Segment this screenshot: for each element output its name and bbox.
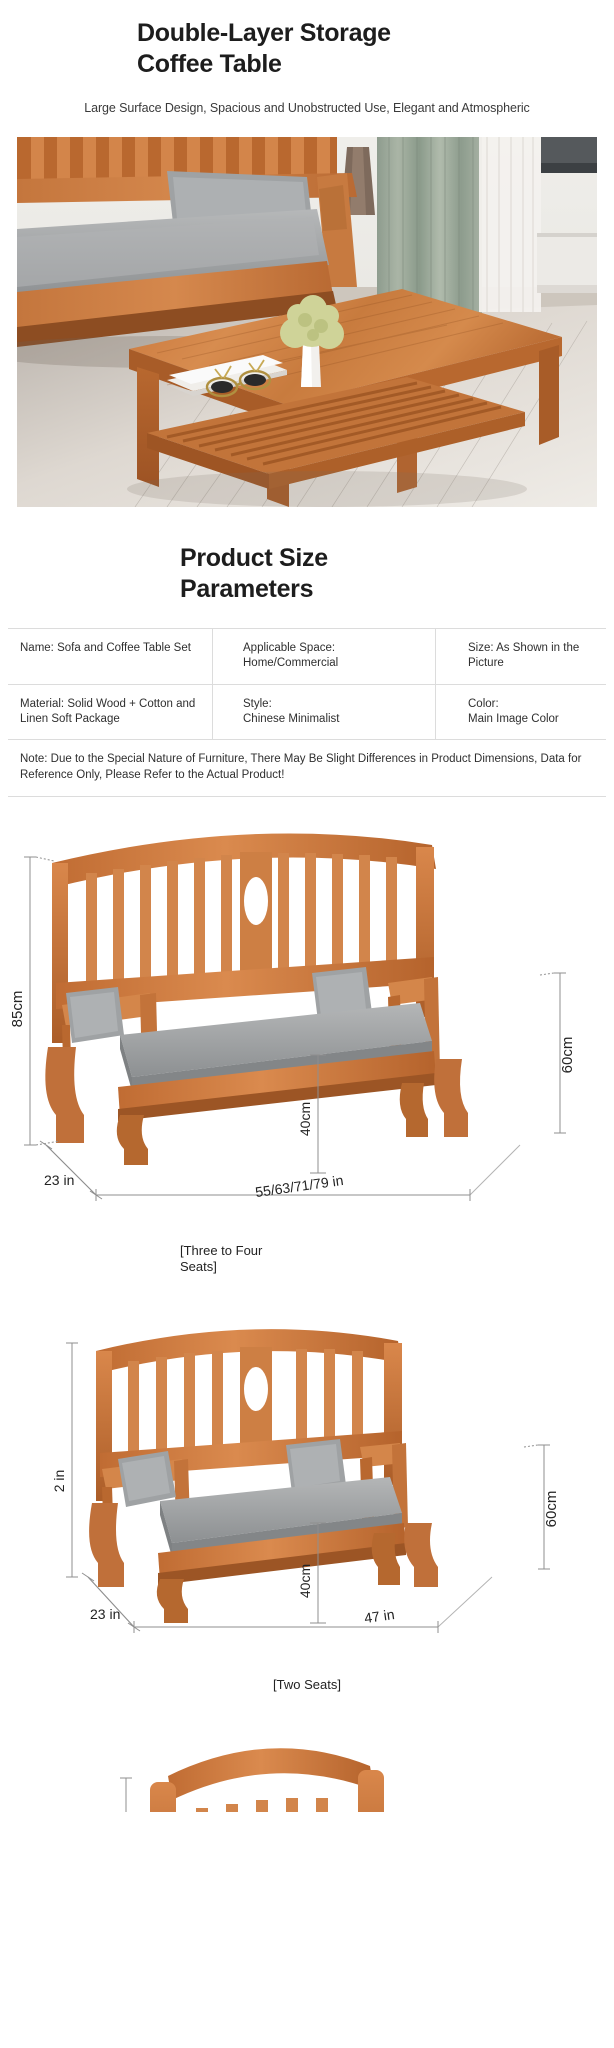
- spec-cell-size: Size: As Shown in the Picture: [436, 629, 606, 684]
- diagram-single-seat-partial: [0, 1720, 614, 1812]
- spec-cell-color: Color: Main Image Color: [436, 685, 606, 740]
- dim-label-overall-height-2: 2 in: [51, 1470, 67, 1493]
- dim-label-seat-height-2: 40cm: [297, 1564, 313, 1598]
- page-title: Double-Layer Storage Coffee Table: [137, 18, 457, 79]
- spacer: [0, 1275, 614, 1301]
- spec-cell-style: Style: Chinese Minimalist: [213, 685, 436, 740]
- diagram-three-to-four-seats: 85cm 60cm 40cm 55/63/71/79 in 23 in [Thr…: [0, 797, 614, 1276]
- spec-cell-material: Material: Solid Wood + Cotton and Linen …: [8, 685, 213, 740]
- table-row-note: Note: Due to the Special Nature of Furni…: [8, 740, 606, 796]
- caption-line1: [Three to Four: [180, 1243, 360, 1259]
- table-row: Name: Sofa and Coffee Table Set Applicab…: [8, 629, 606, 685]
- section-heading-line2: Parameters: [180, 574, 480, 605]
- dim-label-seat-height: 40cm: [297, 1102, 313, 1136]
- caption-line2: Seats]: [180, 1259, 360, 1275]
- spec-label: Size:: [468, 642, 494, 654]
- spec-value: Sofa and Coffee Table Set: [57, 642, 191, 654]
- spec-table: Name: Sofa and Coffee Table Set Applicab…: [8, 628, 606, 797]
- dim-label-arm-height-2: 60cm: [543, 1491, 560, 1528]
- section-heading-line1: Product Size: [180, 543, 480, 574]
- page-subtitle: Large Surface Design, Spacious and Unobs…: [0, 101, 614, 115]
- table-row: Material: Solid Wood + Cotton and Linen …: [8, 685, 606, 741]
- spec-value: Home/Commercial: [243, 656, 425, 671]
- dim-label-overall-height: 85cm: [9, 991, 26, 1028]
- dim-label-depth-2: 23 in: [90, 1606, 120, 1622]
- spec-value: Chinese Minimalist: [243, 712, 425, 727]
- spec-label: Style:: [243, 697, 425, 712]
- page-title-line1: Double-Layer Storage: [137, 18, 457, 49]
- spec-value: Main Image Color: [468, 712, 596, 727]
- dim-label-depth: 23 in: [44, 1172, 74, 1188]
- diagram-caption-two-seats: [Two Seats]: [0, 1677, 614, 1693]
- spec-cell-name: Name: Sofa and Coffee Table Set: [8, 629, 213, 684]
- spec-note: Note: Due to the Special Nature of Furni…: [8, 740, 606, 796]
- spec-label: Name:: [20, 642, 54, 654]
- spec-label: Applicable Space:: [243, 641, 425, 656]
- dim-label-width-2: 47 in: [363, 1606, 395, 1626]
- spec-cell-applicable-space: Applicable Space: Home/Commercial: [213, 629, 436, 684]
- section-heading: Product Size Parameters: [180, 543, 480, 604]
- spec-label: Material:: [20, 698, 64, 710]
- hero-header: Double-Layer Storage Coffee Table Large …: [0, 0, 614, 115]
- spec-label: Color:: [468, 697, 596, 712]
- dim-label-arm-height: 60cm: [559, 1037, 576, 1074]
- diagram-two-seats: 2 in 60cm 40cm 47 in 23 in [Two Seats]: [0, 1301, 614, 1693]
- coffee-table-living-room-photo: [17, 137, 597, 507]
- product-detail-page: Double-Layer Storage Coffee Table Large …: [0, 0, 614, 1812]
- page-title-line2: Coffee Table: [137, 49, 457, 80]
- dim-label-width: 55/63/71/79 in: [254, 1172, 344, 1200]
- diagram-caption-three-to-four: [Three to Four Seats]: [180, 1243, 360, 1276]
- hero-photo: [17, 137, 597, 507]
- caption-line1: [Two Seats]: [273, 1677, 341, 1692]
